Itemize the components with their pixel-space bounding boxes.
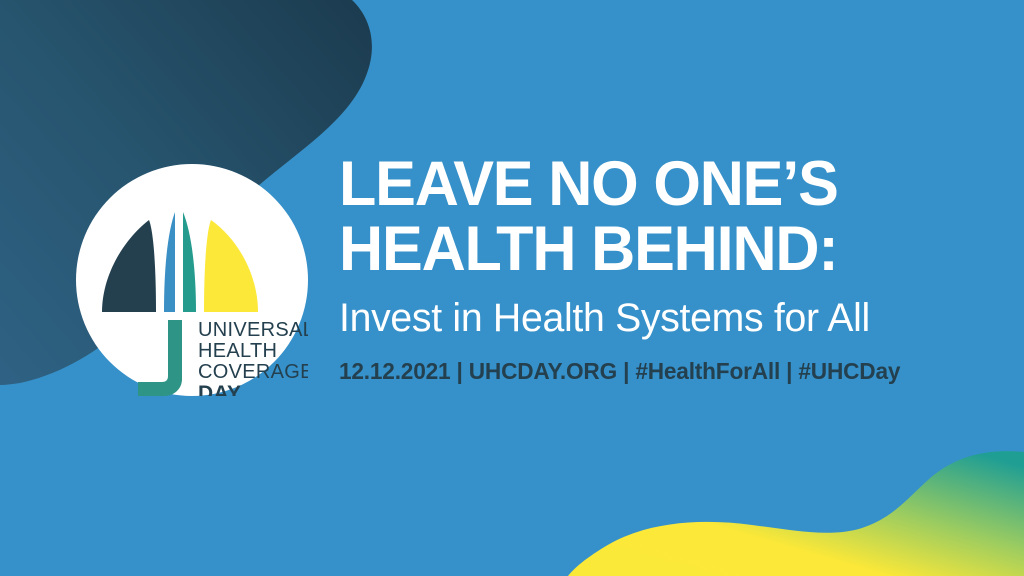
logo-line-coverage: COVERAGE (198, 361, 308, 383)
headline-line-2: HEALTH BEHIND: (339, 217, 979, 282)
uhc-day-logo: UNIVERSAL HEALTH COVERAGE DAY (76, 164, 308, 396)
headline-line-1: LEAVE NO ONE’S (339, 152, 979, 217)
uhc-day-banner: UNIVERSAL HEALTH COVERAGE DAY LEAVE NO O… (0, 0, 1024, 576)
logo-line-day: DAY (198, 382, 241, 396)
logo-line-health: HEALTH (198, 340, 277, 362)
logo-wordmark: UNIVERSAL HEALTH COVERAGE DAY (198, 319, 308, 396)
subtitle: Invest in Health Systems for All (339, 294, 986, 343)
tagline: 12.12.2021 | UHCDAY.ORG | #HealthForAll … (339, 358, 989, 385)
logo-svg: UNIVERSAL HEALTH COVERAGE DAY (76, 164, 308, 396)
logo-line-universal: UNIVERSAL (198, 319, 308, 341)
message-block: LEAVE NO ONE’S HEALTH BEHIND: Invest in … (339, 152, 999, 385)
